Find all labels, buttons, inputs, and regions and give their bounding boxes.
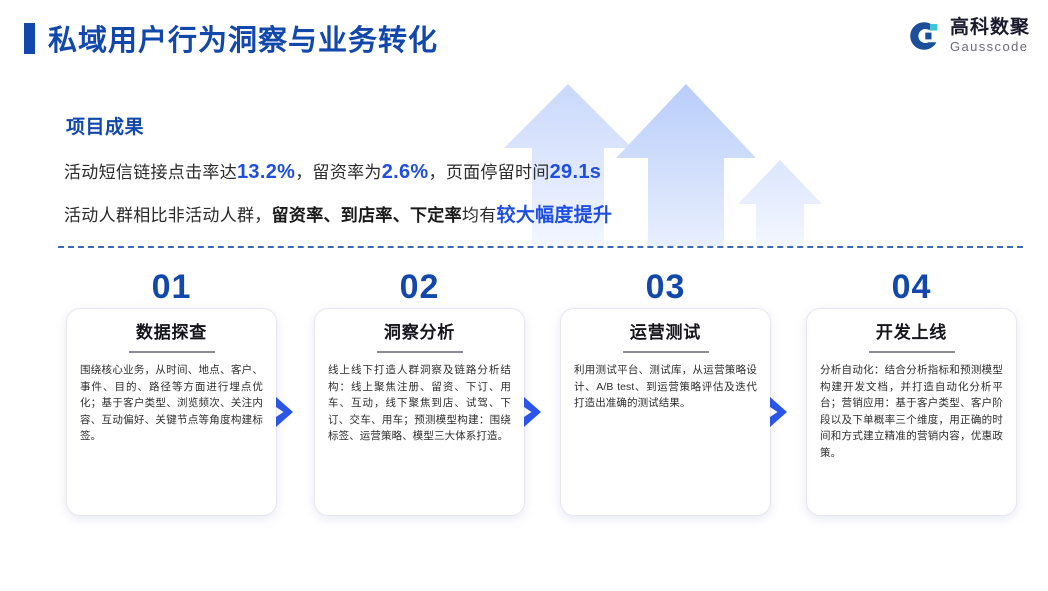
section-divider [58,246,1023,248]
results-l2-highlight: 较大幅度提升 [497,205,613,226]
logo-text-en: Gausscode [950,40,1030,53]
chevron-right-icon-2 [520,395,546,429]
step-title-1: 数据探查 [80,323,263,343]
metric-click-rate: 13.2% [237,161,295,183]
logo-text-cn: 高科数聚 [950,18,1030,37]
step-slot-1: 01 数据探查 围绕核心业务，从时间、地点、客户、事件、目的、路径等方面进行埋点… [66,270,277,518]
step-body-4: 分析自动化：结合分析指标和预测模型构建开发文档，并打造自动化分析平台；营销应用：… [820,362,1003,461]
step-title-3: 运营测试 [574,323,757,343]
arrow-right-shape [738,160,822,246]
slide-canvas: 私域用户行为洞察与业务转化 高科数聚 Gausscode 项目成果 活动短信链接… [0,0,1048,591]
step-body-3: 利用测试平台、测试库，从运营策略设计、A/B test、到运营策略评估及迭代打造… [574,362,757,412]
chevron-right-icon-3 [766,395,792,429]
step-title-4: 开发上线 [820,323,1003,343]
brand-logo: 高科数聚 Gausscode [907,18,1030,53]
step-number-3: 03 [560,270,771,304]
step-number-1: 01 [66,270,277,304]
results-l1-part3: ，页面停留时间 [429,163,550,182]
metric-retention-rate: 2.6% [382,161,429,183]
results-line-2: 活动人群相比非活动人群，留资率、到店率、下定率均有较大幅度提升 [64,200,612,227]
results-line-1: 活动短信链接点击率达13.2%，留资率为2.6%，页面停留时间29.1s [64,158,601,184]
step-card-4[interactable]: 开发上线 分析自动化：结合分析指标和预测模型构建开发文档，并打造自动化分析平台；… [806,308,1017,516]
chevron-right-icon-1 [272,395,298,429]
results-l2-part1: 活动人群相比非活动人群， [64,206,272,225]
results-l2-part2: 均有 [462,206,497,225]
results-l2-emphasis: 留资率、到店率、下定率 [272,206,462,225]
results-l1-part2: ，留资率为 [295,163,382,182]
arrow-center-shape [616,84,756,246]
step-card-2[interactable]: 洞察分析 线上线下打造人群洞察及链路分析结构：线上聚焦注册、留资、下订、用车、互… [314,308,525,516]
step-slot-4: 04 开发上线 分析自动化：结合分析指标和预测模型构建开发文档，并打造自动化分析… [806,270,1017,518]
step-rule-4 [869,351,955,353]
step-card-3[interactable]: 运营测试 利用测试平台、测试库，从运营策略设计、A/B test、到运营策略评估… [560,308,771,516]
steps-row: 01 数据探查 围绕核心业务，从时间、地点、客户、事件、目的、路径等方面进行埋点… [0,270,1048,520]
step-card-1[interactable]: 数据探查 围绕核心业务，从时间、地点、客户、事件、目的、路径等方面进行埋点优化；… [66,308,277,516]
title-accent-bar [24,23,35,54]
results-heading: 项目成果 [66,112,144,139]
step-number-4: 04 [806,270,1017,304]
step-rule-2 [377,351,463,353]
page-title: 私域用户行为洞察与业务转化 [48,17,438,59]
step-rule-1 [129,351,215,353]
step-rule-3 [623,351,709,353]
step-body-1: 围绕核心业务，从时间、地点、客户、事件、目的、路径等方面进行埋点优化；基于客户类… [80,362,263,445]
step-slot-3: 03 运营测试 利用测试平台、测试库，从运营策略设计、A/B test、到运营策… [560,270,771,518]
step-title-2: 洞察分析 [328,323,511,343]
metric-dwell-time: 29.1s [550,161,602,183]
step-slot-2: 02 洞察分析 线上线下打造人群洞察及链路分析结构：线上聚焦注册、留资、下订、用… [314,270,525,518]
step-body-2: 线上线下打造人群洞察及链路分析结构：线上聚焦注册、留资、下订、用车、互动，线下聚… [328,362,511,445]
gausscode-logo-icon [907,19,941,53]
results-l1-part1: 活动短信链接点击率达 [64,163,237,182]
step-number-2: 02 [314,270,525,304]
